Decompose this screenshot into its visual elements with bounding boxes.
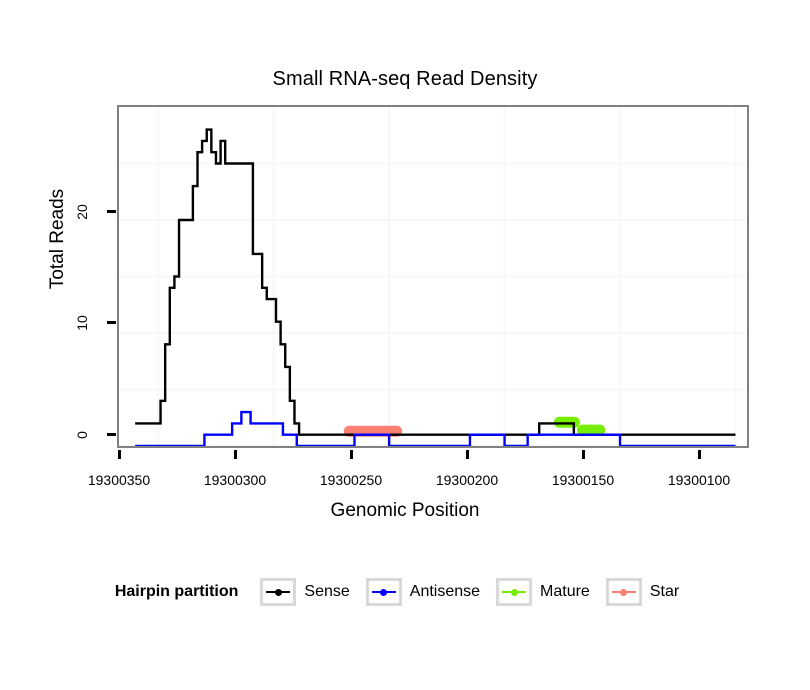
legend-dot-star [620,589,627,596]
x-tick-label-1: 19300300 [175,472,295,488]
legend-dot-mature [511,589,518,596]
x-tickmark-4 [582,450,585,459]
x-tickmark-2 [350,450,353,459]
legend-key-mature [496,578,532,606]
y-tickmark-20 [107,210,116,213]
data-series [135,130,735,446]
x-tick-label-3: 19300200 [407,472,527,488]
x-tickmark-3 [466,450,469,459]
legend-key-sense [260,578,296,606]
y-tick-label-10: 10 [74,303,90,343]
plot-panel [117,105,749,448]
legend-title: Hairpin partition [115,583,239,601]
legend-label-mature: Mature [540,583,590,601]
legend-dot-antisense [380,589,387,596]
x-tickmark-1 [234,450,237,459]
x-tickmark-0 [118,450,121,459]
legend-item-sense[interactable]: Sense [260,578,349,606]
legend-label-sense: Sense [304,583,349,601]
x-tick-label-0: 19300350 [59,472,179,488]
x-tick-label-2: 19300250 [291,472,411,488]
legend-item-antisense[interactable]: Antisense [366,578,480,606]
y-tick-label-20: 20 [74,192,90,232]
x-tick-label-5: 19300100 [639,472,759,488]
y-tickmark-0 [107,433,116,436]
legend-label-antisense: Antisense [410,583,480,601]
legend: Hairpin partition Sense Antisense Mature [0,578,810,606]
legend-key-antisense [366,578,402,606]
legend-item-star[interactable]: Star [606,578,679,606]
legend-key-star [606,578,642,606]
x-tickmark-5 [698,450,701,459]
chart-title: Small RNA-seq Read Density [0,68,810,91]
plot-canvas [119,107,747,446]
x-tick-label-4: 19300150 [523,472,643,488]
y-axis-label: Total Reads [47,169,69,309]
gridlines [119,107,747,446]
chart-figure: Small RNA-seq Read Density Total Reads G… [0,0,810,690]
series-line-antisense [135,412,735,446]
y-tickmark-10 [107,321,116,324]
legend-dot-sense [275,589,282,596]
legend-item-mature[interactable]: Mature [496,578,590,606]
y-tick-label-0: 0 [74,415,90,455]
x-axis-label: Genomic Position [0,500,810,522]
legend-label-star: Star [650,583,679,601]
